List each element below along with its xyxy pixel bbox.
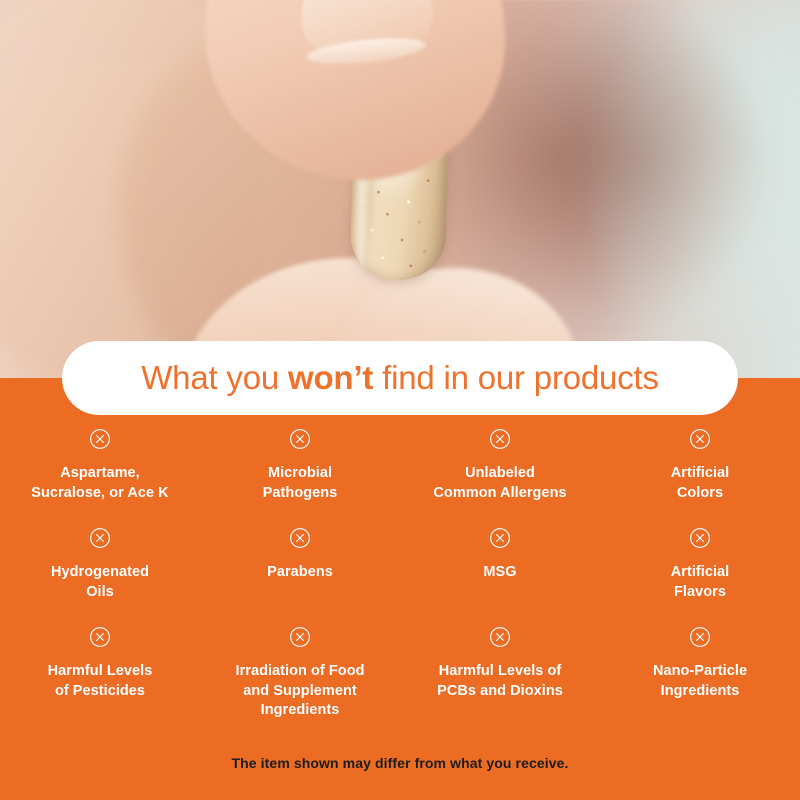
photo-blurred-backdrop: [470, 10, 770, 310]
excluded-ingredient-label: Harmful Levels of PCBs and Dioxins: [437, 662, 563, 701]
excluded-ingredient-label: Hydrogenated Oils: [51, 563, 149, 602]
excluded-ingredient-item: MSG: [400, 527, 600, 602]
circle-x-icon: [489, 428, 511, 450]
circle-x-icon: [489, 527, 511, 549]
circle-x-icon: [89, 626, 111, 648]
excluded-ingredient-item: Hydrogenated Oils: [0, 527, 200, 602]
circle-x-icon: [489, 626, 511, 648]
excluded-ingredient-label: Aspartame, Sucralose, or Ace K: [31, 464, 168, 503]
excluded-ingredient-item: Nano-Particle Ingredients: [600, 626, 800, 721]
excluded-ingredient-item: Parabens: [200, 527, 400, 602]
headline-text-emphasis: won’t: [288, 359, 373, 396]
excluded-ingredient-label: Harmful Levels of Pesticides: [48, 662, 153, 701]
headline-text-before: What you: [141, 359, 288, 396]
excluded-ingredient-item: Artificial Flavors: [600, 527, 800, 602]
excluded-ingredient-label: Microbial Pathogens: [263, 464, 338, 503]
excluded-ingredient-item: Unlabeled Common Allergens: [400, 428, 600, 503]
excluded-ingredient-item: Artificial Colors: [600, 428, 800, 503]
page-title: What you won’t find in our products: [141, 359, 659, 397]
excluded-ingredient-label: Nano-Particle Ingredients: [653, 662, 747, 701]
excluded-ingredient-label: MSG: [483, 563, 516, 583]
excluded-ingredient-label: Artificial Flavors: [671, 563, 730, 602]
excluded-ingredient-label: Irradiation of Food and Supplement Ingre…: [235, 662, 364, 721]
excluded-ingredient-item: Harmful Levels of Pesticides: [0, 626, 200, 721]
headline-pill: What you won’t find in our products: [62, 341, 738, 415]
excluded-ingredient-item: Aspartame, Sucralose, or Ace K: [0, 428, 200, 503]
circle-x-icon: [89, 527, 111, 549]
excluded-ingredient-label: Artificial Colors: [671, 464, 730, 503]
circle-x-icon: [689, 626, 711, 648]
circle-x-icon: [689, 428, 711, 450]
circle-x-icon: [689, 527, 711, 549]
circle-x-icon: [289, 527, 311, 549]
circle-x-icon: [289, 428, 311, 450]
excluded-ingredient-label: Unlabeled Common Allergens: [433, 464, 566, 503]
headline-text-after: find in our products: [373, 359, 659, 396]
product-claims-graphic: What you won’t find in our products Aspa…: [0, 0, 800, 800]
product-photo: [0, 0, 800, 378]
circle-x-icon: [289, 626, 311, 648]
excluded-ingredient-item: Irradiation of Food and Supplement Ingre…: [200, 626, 400, 721]
excluded-ingredient-item: Microbial Pathogens: [200, 428, 400, 503]
excluded-ingredient-item: Harmful Levels of PCBs and Dioxins: [400, 626, 600, 721]
disclaimer-text: The item shown may differ from what you …: [0, 755, 800, 771]
excluded-ingredient-label: Parabens: [267, 563, 333, 583]
excluded-ingredients-grid: Aspartame, Sucralose, or Ace KMicrobial …: [0, 428, 800, 721]
circle-x-icon: [89, 428, 111, 450]
